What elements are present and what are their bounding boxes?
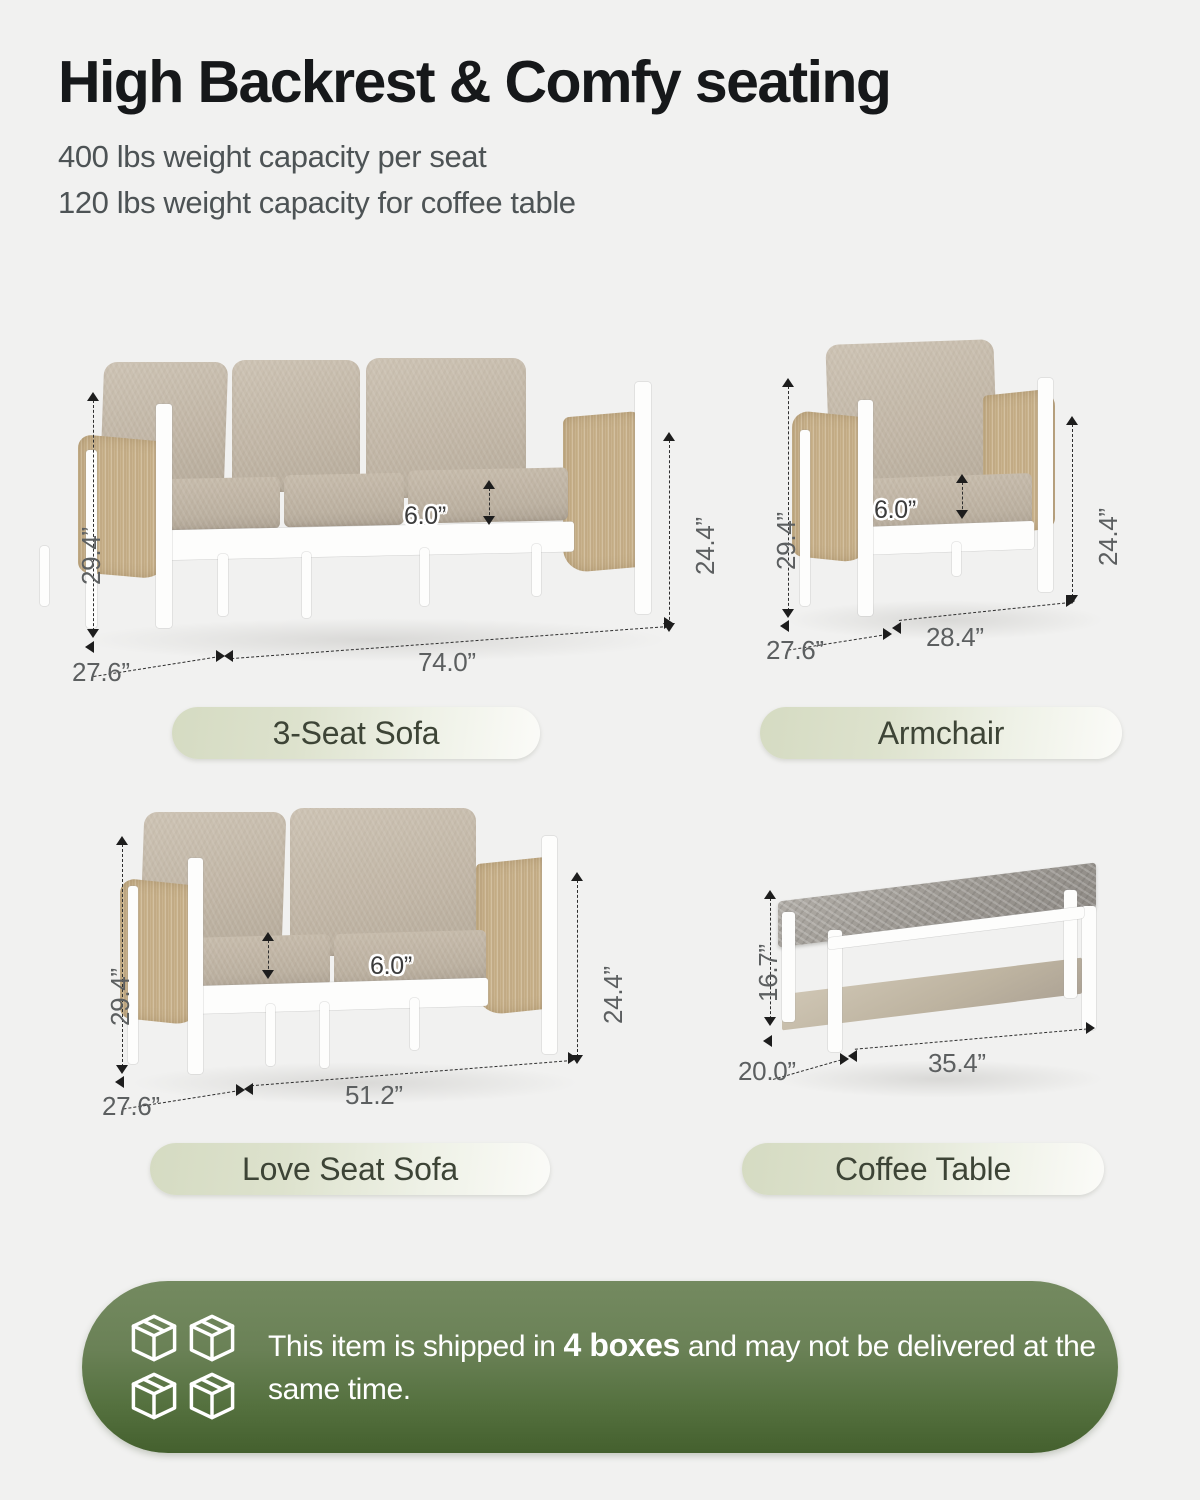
dimension-depth-label: 27.6” [766,635,824,666]
frame-post-left [188,858,203,1074]
leg-rear [952,542,961,576]
dimension-width-label: 51.2” [345,1080,403,1111]
product-3-seat-sofa: 29.4” 24.4” 27.6” 74.0” 6.0” [40,330,700,770]
subtitle-group: 400 lbs weight capacity per seat 120 lbs… [58,134,1158,226]
dimension-width-label: 28.4” [926,622,984,653]
dimension-height-label: 16.7” [753,944,784,1002]
product-armchair: 29.4” 24.4” 27.6” 28.4” 6.0” [740,330,1170,770]
dimension-depth-label: 20.0” [738,1056,796,1087]
infographic-page: High Backrest & Comfy seating 400 lbs we… [0,0,1200,1500]
product-label-text: Coffee Table [835,1151,1011,1188]
dimension-seat-height-label: 24.4” [598,966,629,1024]
frame-post-right [635,382,651,614]
subtitle-weight-seat: 400 lbs weight capacity per seat [58,134,1158,180]
header: High Backrest & Comfy seating 400 lbs we… [58,52,1158,226]
leg-1 [218,554,228,616]
dimension-height-label: 29.4” [105,968,136,1026]
product-label-coffee-table[interactable]: Coffee Table [742,1143,1104,1195]
product-label-love-seat-sofa[interactable]: Love Seat Sofa [150,1143,550,1195]
shipping-boxes-icon-group [128,1312,238,1422]
product-label-text: Love Seat Sofa [242,1151,458,1188]
rope-arm-right [563,410,645,573]
frame-front-rail [858,521,1034,555]
shipping-banner: This item is shipped in 4 boxes and may … [82,1281,1118,1453]
package-box-icon [186,1370,238,1422]
frame-post-left [858,400,873,616]
table-lower-shelf [782,958,1082,1031]
dimension-width-label: 74.0” [418,647,476,678]
back-cushion-center [232,360,360,492]
dimension-depth-label: 27.6” [102,1091,160,1122]
dimension-seat-height-label: 24.4” [690,517,721,575]
dimension-cushion-label: 6.0” [404,502,446,531]
shipping-text-before: This item is shipped in [268,1330,564,1363]
product-label-text: 3-Seat Sofa [273,715,440,752]
product-label-3-seat-sofa[interactable]: 3-Seat Sofa [172,707,540,759]
dimension-depth-label: 27.6” [72,657,130,688]
shipping-banner-text: This item is shipped in 4 boxes and may … [268,1323,1098,1411]
leg-4 [40,546,49,606]
dimension-width-label: 35.4” [928,1048,986,1079]
leg-5 [532,544,541,596]
subtitle-weight-table: 120 lbs weight capacity for coffee table [58,180,1158,226]
page-title: High Backrest & Comfy seating [58,52,1158,112]
seat-cushion-left [158,477,280,532]
package-box-icon [128,1370,180,1422]
leg-3 [410,998,419,1050]
dimension-seat-height-label: 24.4” [1093,508,1124,566]
leg-2 [302,552,311,618]
leg-1 [266,1004,275,1066]
frame-post-right [542,836,557,1054]
product-label-text: Armchair [878,715,1004,752]
dimension-height-label: 29.4” [76,527,107,585]
dimension-height-label: 29.4” [771,512,802,570]
product-label-armchair[interactable]: Armchair [760,707,1122,759]
frame-post-right [1038,378,1053,592]
sofa-illustration [40,330,700,770]
dimension-cushion-label: 6.0” [874,496,916,525]
dimension-cushion-label: 6.0” [370,952,412,981]
table-leg-front-right [1082,906,1096,1030]
shipping-box-count: 4 boxes [564,1327,680,1363]
seat-cushion-center [284,473,404,528]
seat-cushion-left [190,934,330,990]
table-leg-back-right [1064,890,1077,998]
frame-post-left [156,404,172,628]
leg-2 [320,1002,329,1068]
package-box-icon [186,1312,238,1364]
package-box-icon [128,1312,180,1364]
leg-3 [420,548,429,606]
